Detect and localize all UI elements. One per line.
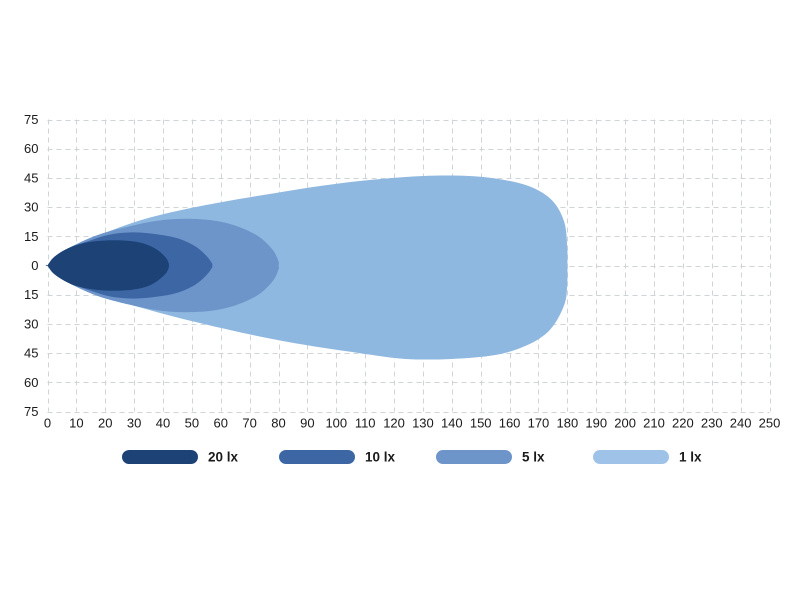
x-tick-label: 250 [759, 416, 781, 431]
x-tick-label: 80 [271, 416, 285, 431]
y-tick-label: 45 [24, 170, 38, 185]
x-tick-label: 20 [98, 416, 112, 431]
x-tick-label: 50 [185, 416, 199, 431]
y-tick-label: 30 [24, 316, 38, 331]
legend-swatch [279, 450, 355, 464]
legend-label: 1 lx [679, 450, 702, 465]
x-tick-label: 140 [441, 416, 463, 431]
x-tick-label: 60 [214, 416, 228, 431]
x-tick-label: 210 [643, 416, 665, 431]
x-tick-label: 230 [701, 416, 723, 431]
beam-pattern-chart: 0102030405060708090100110120130140150160… [0, 0, 800, 600]
x-tick-label: 90 [300, 416, 314, 431]
x-tick-label: 130 [412, 416, 434, 431]
legend-label: 20 lx [208, 450, 239, 465]
x-tick-label: 0 [44, 416, 51, 431]
legend-label: 5 lx [522, 450, 545, 465]
x-tick-label: 10 [69, 416, 83, 431]
y-tick-label: 75 [24, 112, 38, 127]
y-tick-label: 30 [24, 200, 38, 215]
x-tick-label: 70 [242, 416, 256, 431]
x-tick-label: 100 [325, 416, 347, 431]
y-tick-label: 15 [24, 287, 38, 302]
x-tick-label: 150 [470, 416, 492, 431]
x-tick-label: 200 [614, 416, 636, 431]
legend-item[interactable]: 1 lx [593, 450, 702, 465]
legend-item[interactable]: 20 lx [122, 450, 239, 465]
x-tick-label: 180 [556, 416, 578, 431]
legend-swatch [593, 450, 669, 464]
y-tick-label: 15 [24, 229, 38, 244]
x-tick-label: 40 [156, 416, 170, 431]
x-tick-label: 190 [585, 416, 607, 431]
y-tick-label: 60 [24, 375, 38, 390]
chart-canvas: 0102030405060708090100110120130140150160… [0, 0, 800, 600]
x-tick-label: 30 [127, 416, 141, 431]
legend-swatch [436, 450, 512, 464]
legend-item[interactable]: 5 lx [436, 450, 545, 465]
legend-swatch [122, 450, 198, 464]
x-tick-label: 240 [730, 416, 752, 431]
x-tick-label: 110 [355, 416, 376, 431]
x-tick-label: 220 [672, 416, 694, 431]
x-tick-label: 160 [499, 416, 521, 431]
x-tick-label: 120 [383, 416, 405, 431]
y-tick-label: 75 [24, 404, 38, 419]
y-tick-label: 45 [24, 346, 38, 361]
legend-label: 10 lx [365, 450, 396, 465]
y-tick-label: 0 [31, 258, 38, 273]
x-tick-label: 170 [528, 416, 550, 431]
legend-item[interactable]: 10 lx [279, 450, 396, 465]
y-tick-label: 60 [24, 141, 38, 156]
